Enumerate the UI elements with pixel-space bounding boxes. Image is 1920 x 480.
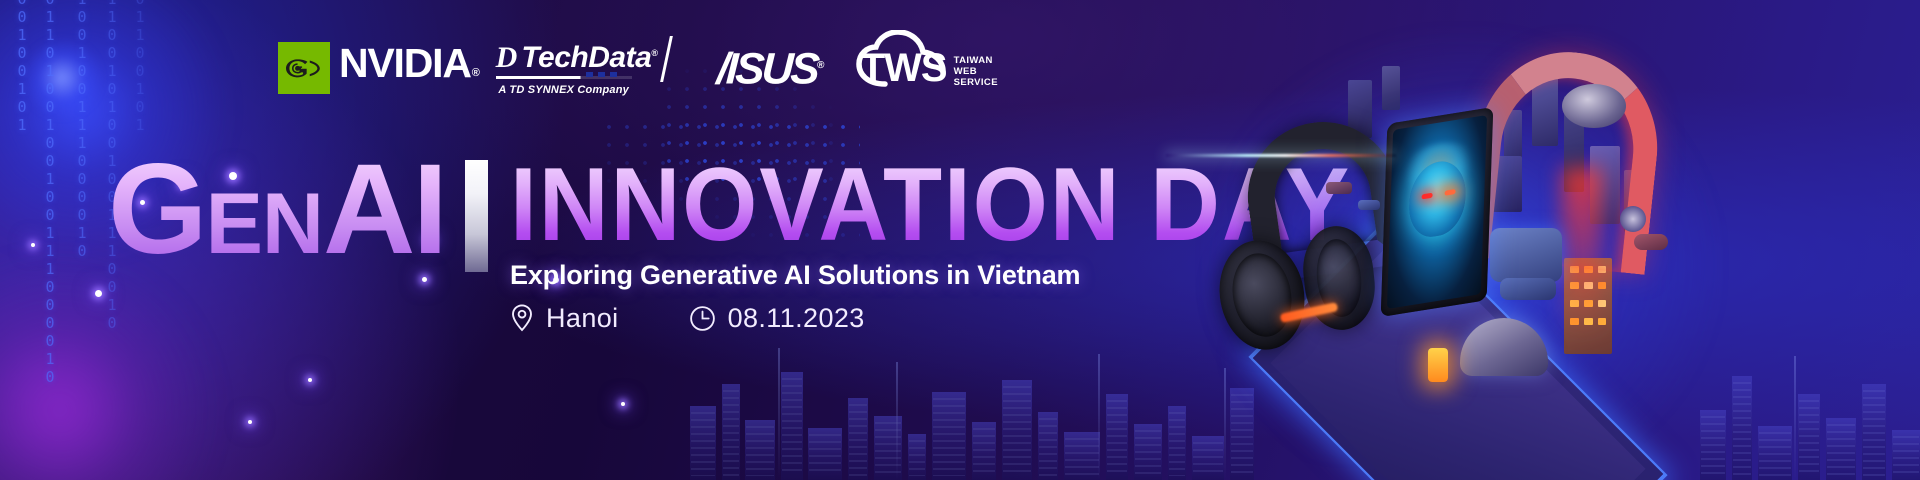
asus-wordmark: /ISUS®: [716, 44, 826, 92]
art-floating-chip: [1358, 200, 1380, 210]
sparkle-star: [308, 378, 312, 382]
tablet-screen: [1387, 115, 1487, 309]
scan-beam: [1166, 154, 1396, 157]
event-location-label: Hanoi: [546, 303, 619, 334]
techdata-tagline: A TD SYNNEX Company: [496, 84, 632, 96]
art-machine-base: [1500, 278, 1556, 300]
art-sphere: [1562, 84, 1626, 128]
binary-column-1: 00100101: [14, 0, 29, 150]
ai-face-eye-left: [1422, 192, 1433, 199]
techdata-logo[interactable]: D TechData® A TD SYNNEX Company: [496, 38, 658, 98]
techdata-wordmark-text: TechData: [521, 41, 651, 74]
red-arch-glow: [1562, 168, 1602, 338]
tablet-device: [1381, 107, 1494, 317]
location-pin-icon: [510, 303, 534, 333]
techdata-wordmark: TechData®: [521, 38, 657, 73]
tws-wordmark: TWS: [861, 48, 947, 88]
asus-trademark: ®: [817, 60, 825, 71]
nvidia-wordmark: NVIDIA®: [339, 43, 478, 94]
art-building: [1382, 66, 1400, 110]
event-banner: 00100101 0110100100100111000010 10010011…: [0, 0, 1920, 480]
techdata-slash-accent: [661, 36, 674, 82]
genai-brand-lockup: G EN AI: [108, 146, 445, 274]
sparkle-star: [95, 290, 102, 297]
ai-isometric-city-illustration: [1232, 18, 1692, 468]
nvidia-logo[interactable]: NVIDIA®: [278, 42, 478, 94]
clock-icon: [689, 305, 716, 332]
tws-tagline: TAIWAN WEB SERVICE: [954, 49, 998, 88]
binary-column-3: 100100111000010: [74, 0, 89, 240]
art-lamp: [1428, 348, 1448, 382]
tws-tagline-line2: WEB: [954, 66, 998, 77]
event-location: Hanoi: [510, 303, 619, 334]
genai-letters-en: EN: [206, 181, 323, 267]
asus-logo[interactable]: /ISUS®: [717, 44, 824, 92]
tws-logo[interactable]: TWS TAIWAN WEB SERVICE: [861, 48, 998, 88]
techdata-d-icon: D: [496, 43, 518, 73]
nvidia-wordmark-text: NVIDIA: [339, 40, 471, 86]
sponsor-logo-row: NVIDIA® D TechData® A TD SYNNEX Company …: [278, 38, 998, 98]
binary-column-5: 01100101: [132, 0, 147, 110]
sparkle-star: [621, 402, 625, 406]
tws-tagline-line3: SERVICE: [954, 77, 998, 88]
genai-letters-ai: AI: [323, 146, 445, 274]
art-machine-disc: [1490, 228, 1562, 282]
genai-letter-g: G: [108, 146, 206, 274]
techdata-underline: [496, 76, 632, 79]
sparkle-star: [31, 243, 35, 247]
nvidia-eye-icon: [278, 42, 330, 94]
techdata-trademark: ®: [651, 48, 657, 58]
sparkle-star: [248, 420, 252, 424]
event-date: 08.11.2023: [689, 303, 865, 334]
asus-wordmark-text: /ISUS: [716, 45, 818, 94]
event-date-label: 08.11.2023: [728, 303, 865, 334]
art-floating-chip: [1634, 234, 1668, 250]
art-floating-chip: [1326, 182, 1352, 194]
headline-divider-bar: [465, 160, 488, 272]
nvidia-trademark: ®: [472, 67, 479, 79]
art-floating-chip: [1620, 206, 1646, 232]
tws-tagline-line1: TAIWAN: [954, 55, 998, 66]
binary-column-2: 0110100100100111000010: [42, 0, 57, 230]
ai-face-eye-right: [1445, 189, 1456, 196]
